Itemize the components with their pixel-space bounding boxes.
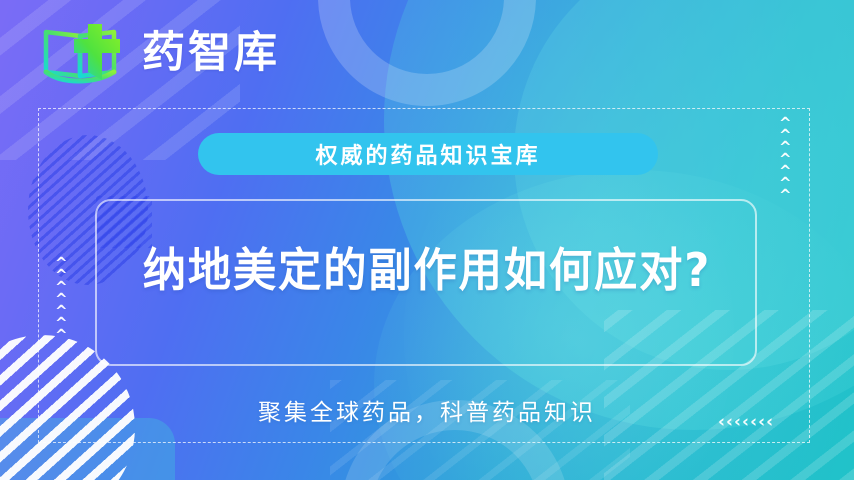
subtitle-pill-text: 权威的药品知识宝库 [315,138,540,170]
chevron-left-icon: ‹ [750,414,757,431]
ring-top-decoration [318,0,536,106]
chevron-left-icon: ‹ [742,414,749,431]
chevron-up-icon: ^ [55,330,68,340]
chevron-up-icon: ^ [779,190,792,200]
chevron-up-group-left: ^^^^^^^ [55,258,68,340]
chevron-left-icon: ‹ [726,414,733,431]
chevron-left-icon: ‹ [734,414,741,431]
subtitle-pill-banner: 权威的药品知识宝库 [198,133,658,175]
brand-logo[interactable]: 药智库 [36,22,280,84]
open-book-plus-icon [36,22,128,84]
chevron-up-group-right: ^^^^^^^ [779,118,792,200]
chevron-left-group-bottom: ‹‹‹‹‹‹‹ [718,414,773,431]
chevron-left-icon: ‹ [758,414,765,431]
chevron-left-icon: ‹ [766,414,773,431]
chevron-left-icon: ‹ [718,414,725,431]
brand-name: 药智库 [142,32,280,75]
page-title: 纳地美定的副作用如何应对? [26,246,829,294]
poster-canvas: 药智库 权威的药品知识宝库 纳地美定的副作用如何应对? 聚集全球药品，科普药品知… [0,0,854,480]
